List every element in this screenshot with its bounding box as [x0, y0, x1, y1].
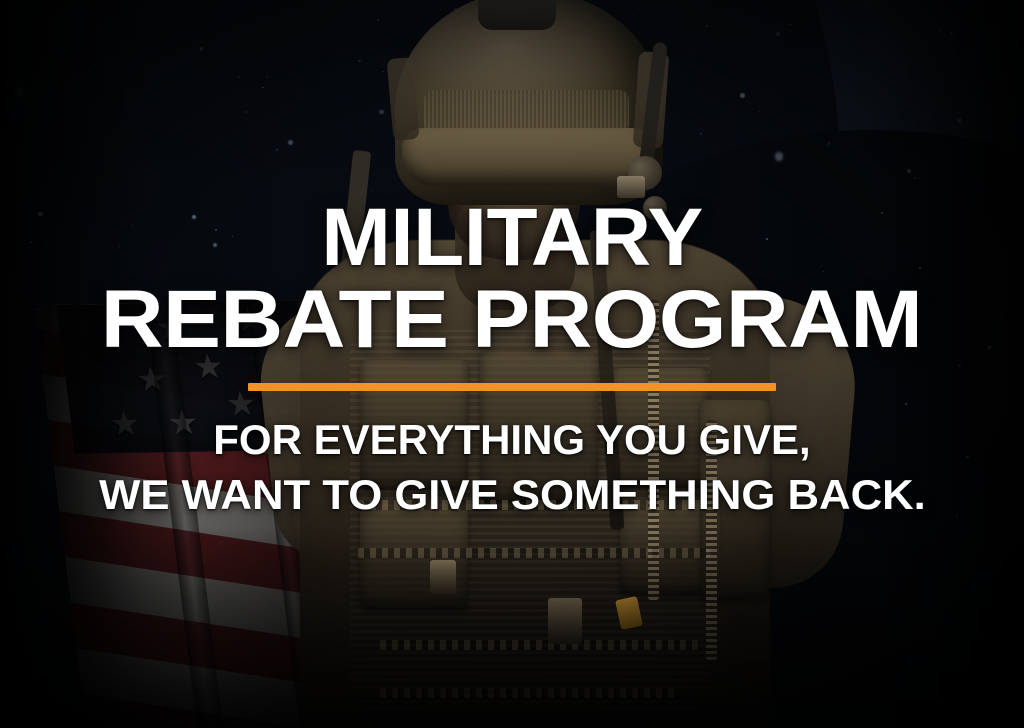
headline-line-1: MILITARY — [321, 198, 703, 278]
subhead-line-2: WE WANT TO GIVE SOMETHING BACK. — [99, 470, 926, 520]
subhead-line-1: FOR EVERYTHING YOU GIVE, — [213, 415, 810, 465]
headline-line-2: REBATE PROGRAM — [101, 280, 923, 360]
banner-text-content: MILITARY REBATE PROGRAM FOR EVERYTHING Y… — [0, 0, 1024, 728]
orange-divider-rule — [248, 383, 776, 391]
military-rebate-banner: ★★★★★★★★★ — [0, 0, 1024, 728]
